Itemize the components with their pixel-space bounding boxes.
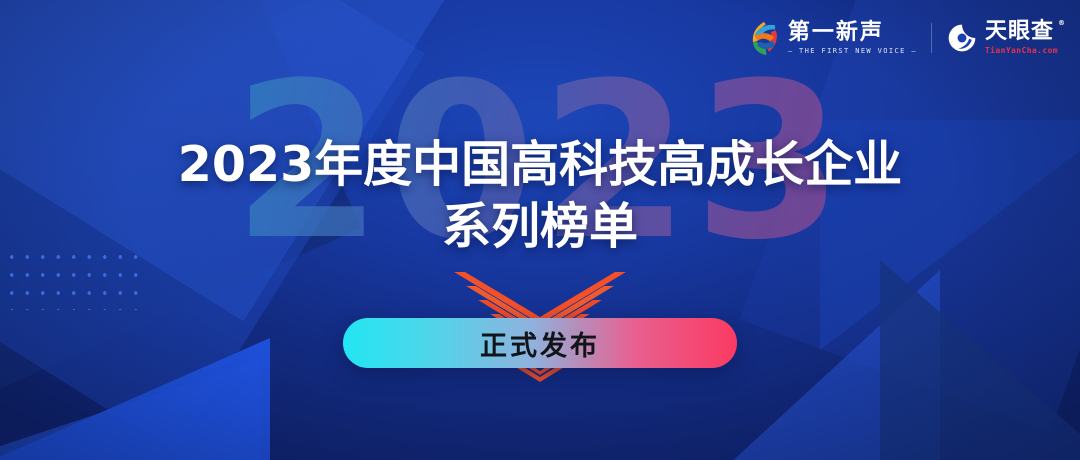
banner-poster: 2023 2023年度中国高科技高成长企业 系列榜单 正式发布 xyxy=(0,0,1080,460)
logo-tianyancha-tagline: TianYanCha.com xyxy=(985,47,1058,55)
logo-diyixinsheng[interactable]: 第一新声 — THE FIRST NEW VOICE — xyxy=(747,20,917,56)
logo-tianyancha[interactable]: 天眼查® TianYanCha.com xyxy=(946,21,1058,55)
logo-diyixinsheng-tagline: — THE FIRST NEW VOICE — xyxy=(788,48,917,55)
page-title-line-1: 2023年度中国高科技高成长企业 xyxy=(0,136,1080,194)
title-block: 2023年度中国高科技高成长企业 系列榜单 xyxy=(0,136,1080,256)
registered-trademark-icon: ® xyxy=(1058,20,1066,27)
logo-diyixinsheng-text: 第一新声 — THE FIRST NEW VOICE — xyxy=(788,22,917,55)
logo-diyixinsheng-name: 第一新声 xyxy=(788,22,917,44)
release-status-label: 正式发布 xyxy=(480,324,600,363)
logo-tianyancha-text: 天眼查® TianYanCha.com xyxy=(985,21,1058,55)
eye-aperture-icon xyxy=(946,22,978,54)
release-status-pill[interactable]: 正式发布 xyxy=(343,318,737,368)
page-title-line-2: 系列榜单 xyxy=(0,198,1080,256)
swirl-ribbon-icon xyxy=(747,20,781,56)
logo-bar: 第一新声 — THE FIRST NEW VOICE — 天眼查® TianYa… xyxy=(747,14,1058,62)
logo-tianyancha-name-cn: 天眼查 xyxy=(985,19,1054,44)
logo-divider xyxy=(931,23,932,53)
logo-tianyancha-name: 天眼查® xyxy=(985,21,1058,43)
